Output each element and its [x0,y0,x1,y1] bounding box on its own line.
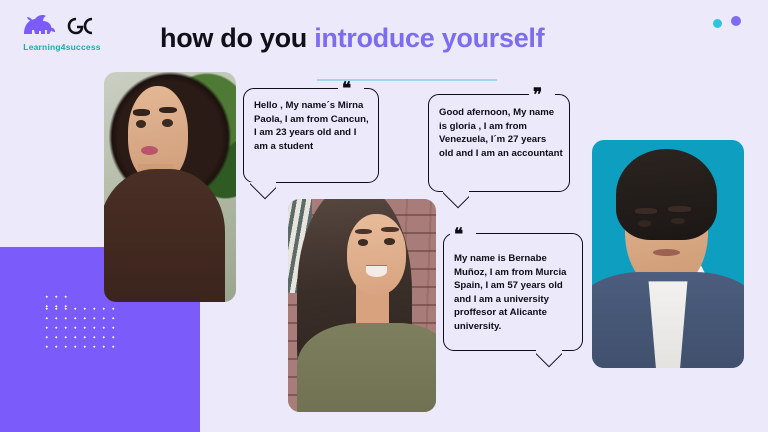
brand-name: Learning4success [14,42,110,52]
brand-logo: Learning4success [14,8,114,58]
photo-bernabe [592,140,744,368]
page-title: how do you introduce yourself [160,23,544,54]
speech-bubble-text: My name is Bernabe Muñoz, I am from Murc… [454,252,578,334]
page-title-part1: how do you [160,23,307,53]
speech-bubble-text: Hello , My name´s Mirna Paola, I am from… [254,99,372,153]
speech-bubble-tail [536,350,562,370]
quote-mark-icon: ❝ [454,226,462,243]
dot-violet-icon [731,16,741,26]
photo-gloria [288,199,436,412]
quote-mark-icon: ❞ [533,86,541,103]
speech-bubble-tail [250,182,276,202]
decor-dot-grid [42,304,118,348]
photo-student-mirna [104,72,236,302]
quote-mark-icon: ❝ [342,80,350,97]
speech-bubble-gloria: ❞ Good afernoon, My name is gloria , I a… [428,94,570,192]
lion-monogram-icon [14,8,110,42]
speech-bubble-bernabe: ❝ My name is Bernabe Muñoz, I am from Mu… [443,233,583,351]
speech-bubble-tail [443,191,469,211]
page-title-part2: introduce yourself [314,23,544,53]
dot-cyan-icon [713,19,722,28]
speech-bubble-text: Good afernoon, My name is gloria , I am … [439,106,563,160]
slide-canvas: Learning4success how do you introduce yo… [0,0,768,432]
speech-bubble-mirna: ❝ Hello , My name´s Mirna Paola, I am fr… [243,88,379,183]
